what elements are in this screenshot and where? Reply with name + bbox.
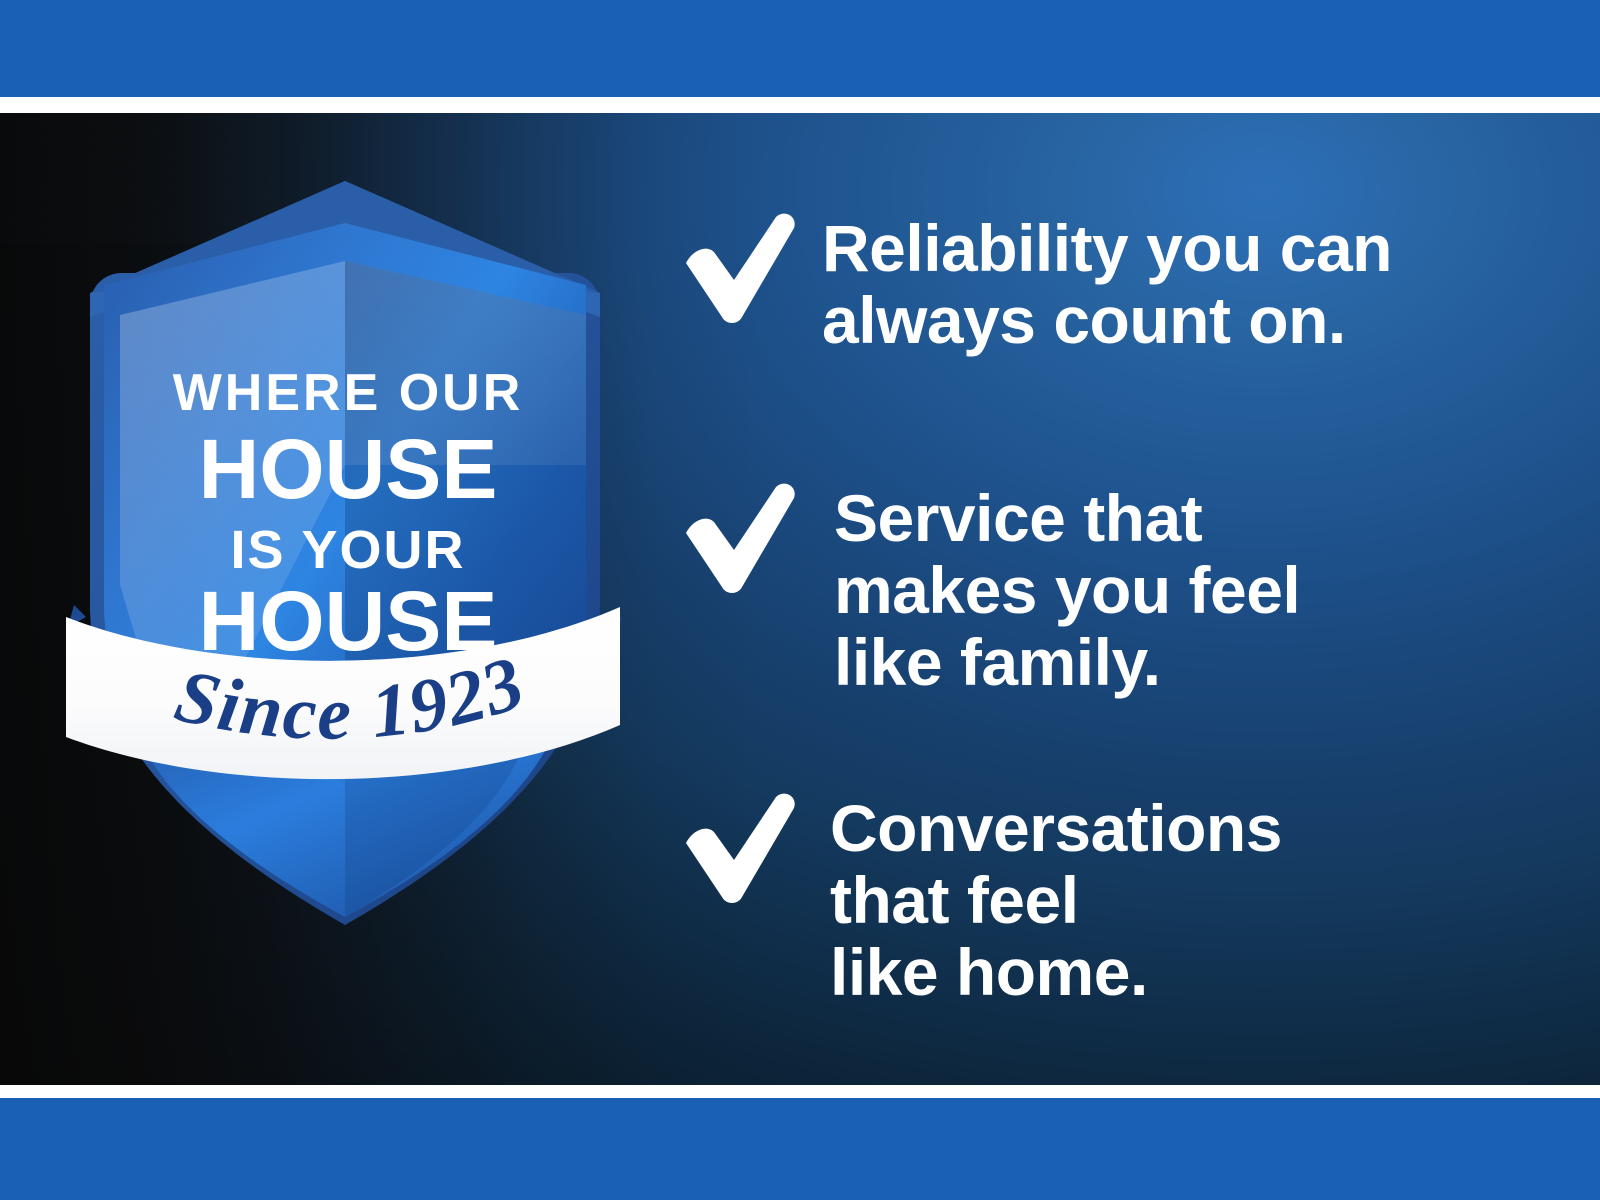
- list-item: Conversations that feel like home.: [668, 791, 1568, 1009]
- shield-line-house-1: HOUSE: [199, 422, 498, 516]
- checkmark-icon: [668, 791, 800, 909]
- shield-logo: WHERE OUR HOUSE IS YOUR HOUSE Since 1923: [60, 165, 630, 935]
- shield-line-is-your: IS YOUR: [230, 520, 465, 580]
- checkmark-icon: [668, 481, 800, 599]
- top-brand-bar: [0, 0, 1600, 97]
- list-item: Service that makes you feel like family.: [668, 481, 1568, 699]
- checkmark-icon: [668, 211, 800, 329]
- list-item-text: Conversations that feel like home.: [830, 791, 1568, 1009]
- shield-line-where-our: WHERE OUR: [173, 364, 524, 422]
- list-item-text: Reliability you can always count on.: [822, 211, 1568, 357]
- list-item: Reliability you can always count on.: [668, 211, 1568, 357]
- benefits-list: Reliability you can always count on. Ser…: [668, 113, 1568, 1085]
- bottom-brand-bar: [0, 1098, 1600, 1200]
- list-item-text: Service that makes you feel like family.: [834, 481, 1568, 699]
- promo-poster: WHERE OUR HOUSE IS YOUR HOUSE Since 1923…: [0, 0, 1600, 1200]
